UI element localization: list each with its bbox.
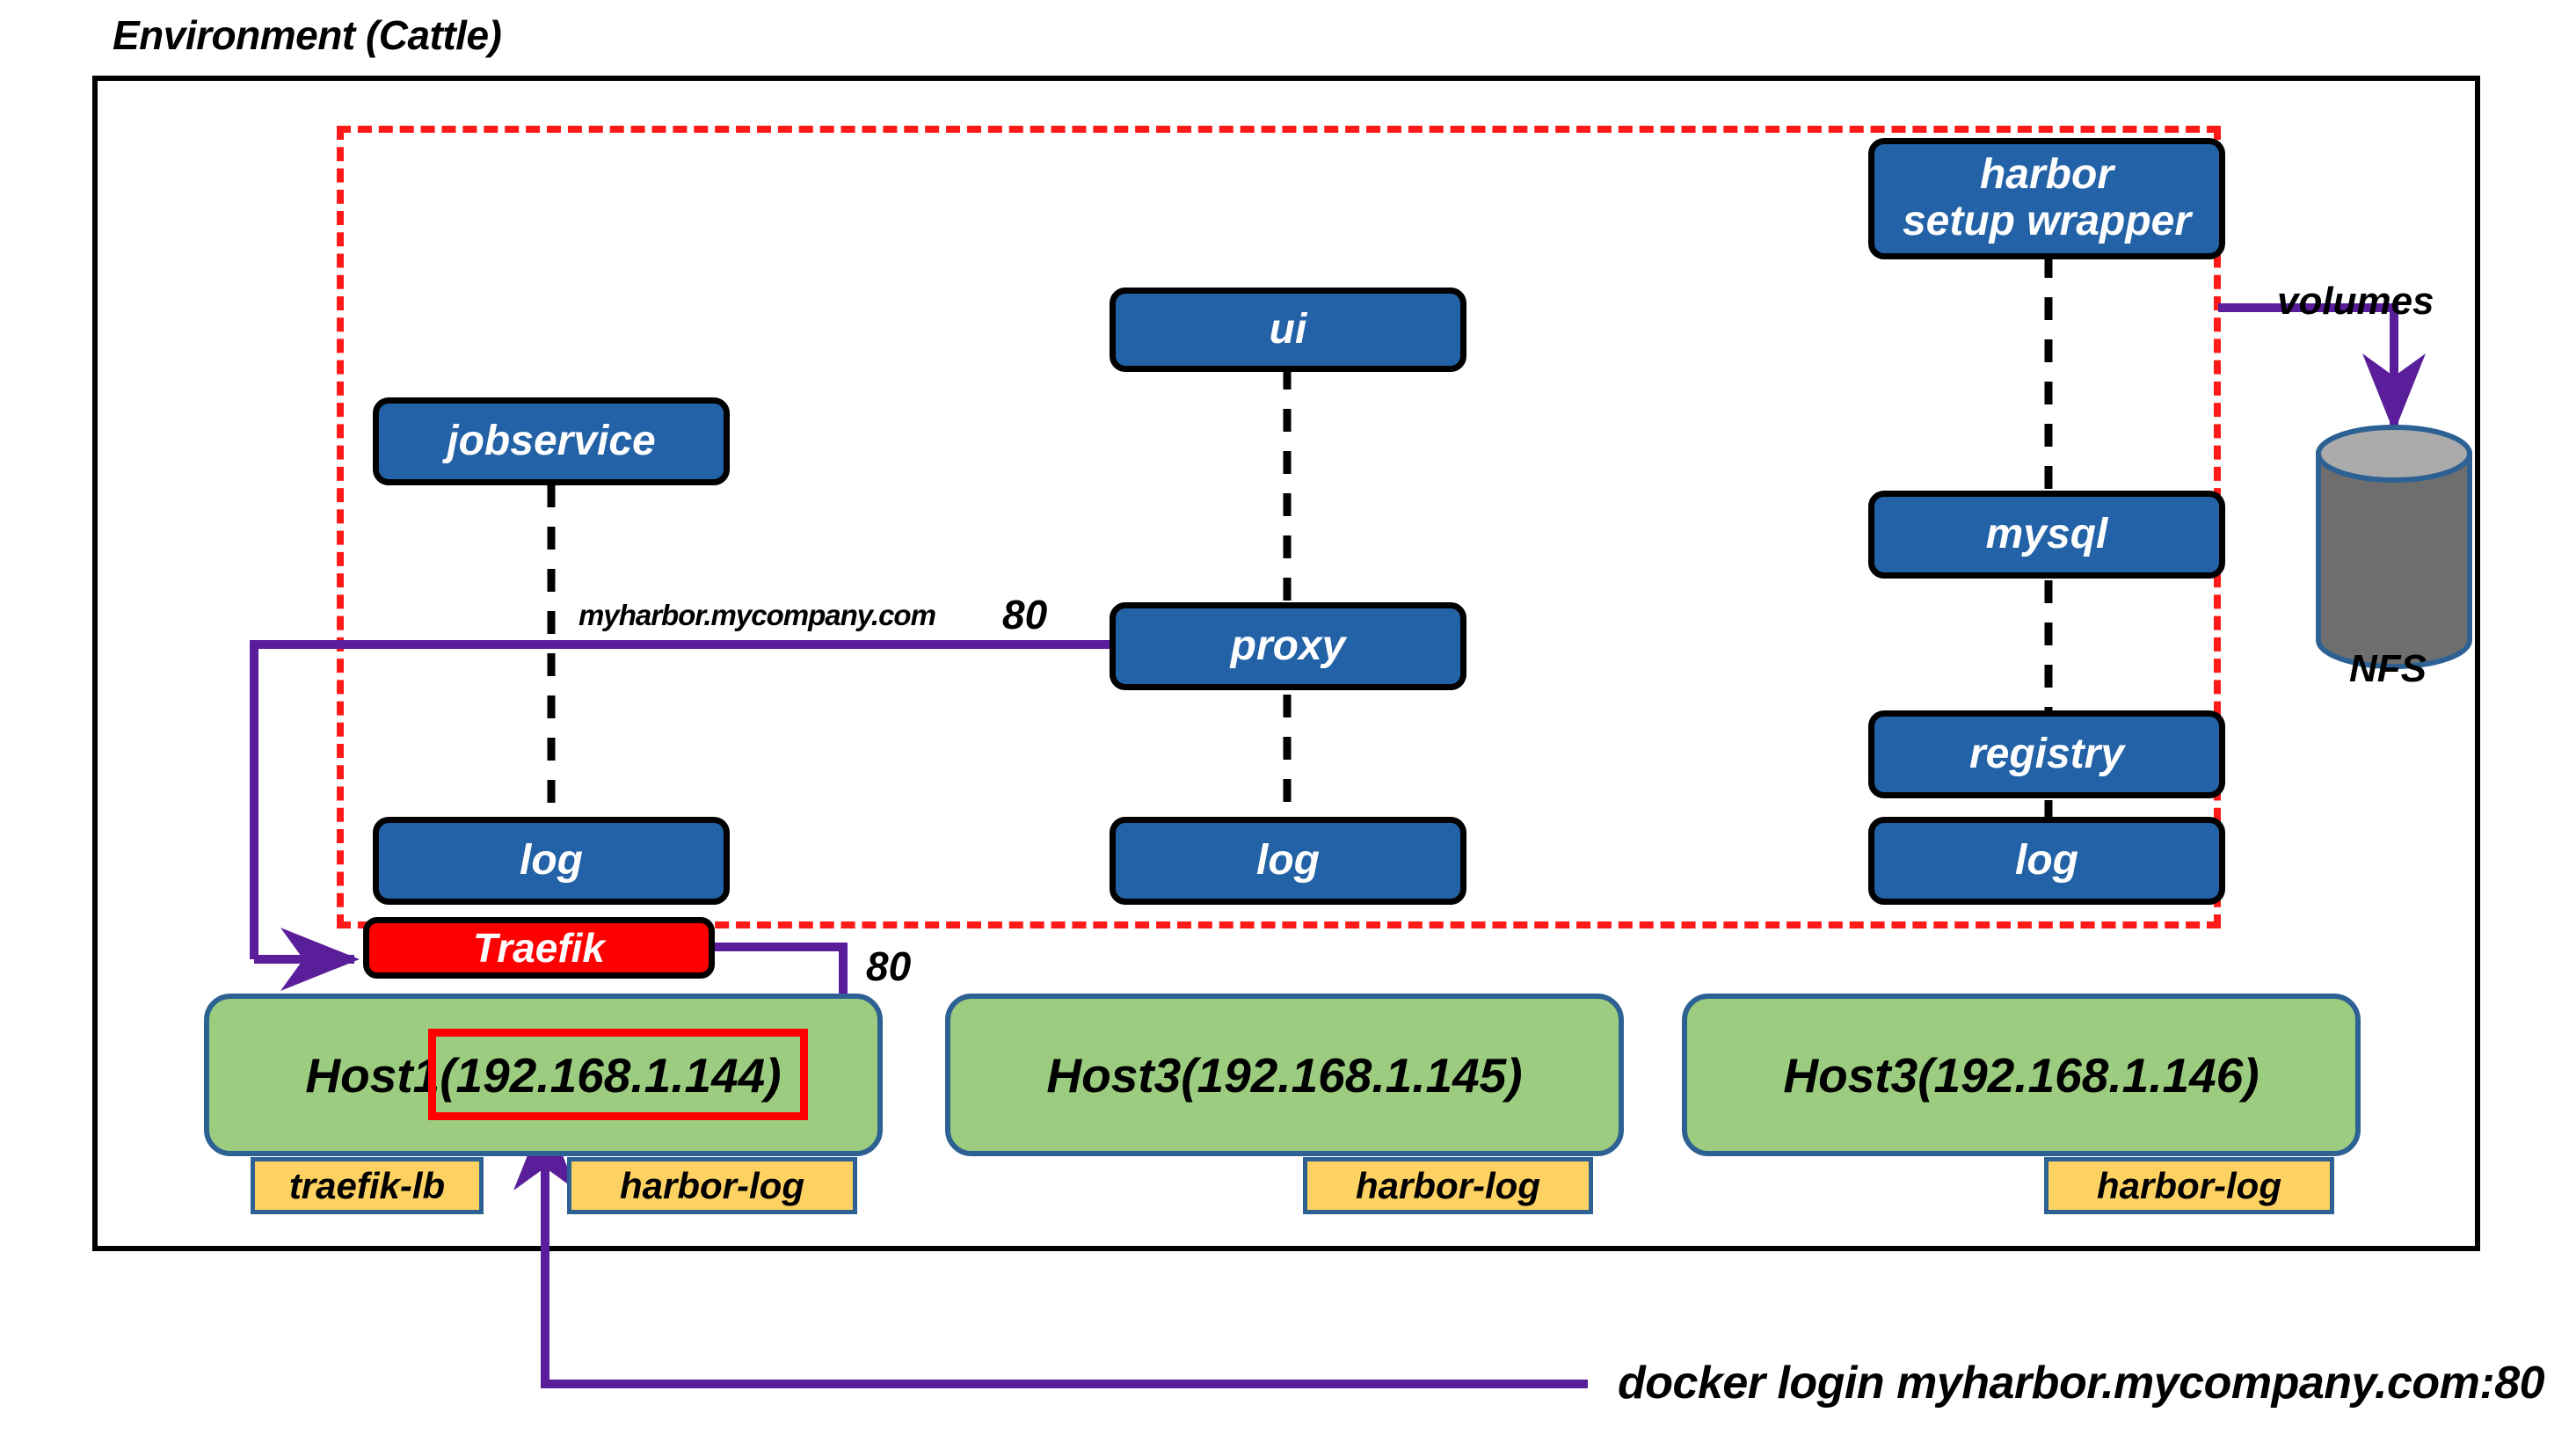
service-node-proxy-log[interactable]: log — [1110, 817, 1466, 905]
service-node-registry[interactable]: registry — [1868, 710, 2225, 798]
nfs-label: NFS — [2349, 649, 2427, 689]
host-3-tag-harbor-log[interactable]: harbor-log — [2044, 1157, 2334, 1214]
volumes-edge-label: volumes — [2277, 281, 2434, 322]
host-1-ip-highlight — [428, 1029, 808, 1120]
service-node-jobservice-log[interactable]: log — [373, 817, 730, 905]
host-box-3[interactable]: Host3 (192.168.1.146) — [1682, 994, 2361, 1156]
docker-login-command-label: docker login myharbor.mycompany.com:80 — [1618, 1359, 2544, 1408]
host-1-tag-harbor-log[interactable]: harbor-log — [567, 1157, 857, 1214]
host-3-ip: (192.168.1.146) — [1917, 1047, 2259, 1103]
harbor-setup-wrapper-line-2: setup wrapper — [1903, 199, 2191, 245]
service-node-registry-log[interactable]: log — [1868, 817, 2225, 905]
traefik-port-label: 80 — [866, 945, 911, 987]
harbor-setup-wrapper-line-1: harbor — [1980, 152, 2114, 199]
diagram-canvas: Environment (Cattle) — [0, 0, 2576, 1449]
traefik-load-balancer-node[interactable]: Traefik — [363, 917, 715, 979]
host-2-tag-harbor-log[interactable]: harbor-log — [1303, 1157, 1593, 1214]
service-node-jobservice[interactable]: jobservice — [373, 397, 730, 485]
host-2-ip: (192.168.1.145) — [1181, 1047, 1522, 1103]
service-node-harbor-setup-wrapper[interactable]: harbor setup wrapper — [1868, 138, 2225, 259]
environment-title: Environment (Cattle) — [113, 14, 501, 56]
service-node-proxy[interactable]: proxy — [1110, 602, 1466, 690]
proxy-port-label: 80 — [1002, 593, 1047, 636]
hostname-edge-label: myharbor.mycompany.com — [579, 601, 935, 631]
host-1-name: Host1 — [305, 1047, 440, 1103]
service-node-mysql[interactable]: mysql — [1868, 491, 2225, 579]
host-3-name: Host3 — [1783, 1047, 1917, 1103]
service-node-ui[interactable]: ui — [1110, 288, 1466, 372]
host-2-name: Host3 — [1046, 1047, 1181, 1103]
host-box-2[interactable]: Host3 (192.168.1.145) — [945, 994, 1624, 1156]
host-1-tag-traefik-lb[interactable]: traefik-lb — [251, 1157, 484, 1214]
